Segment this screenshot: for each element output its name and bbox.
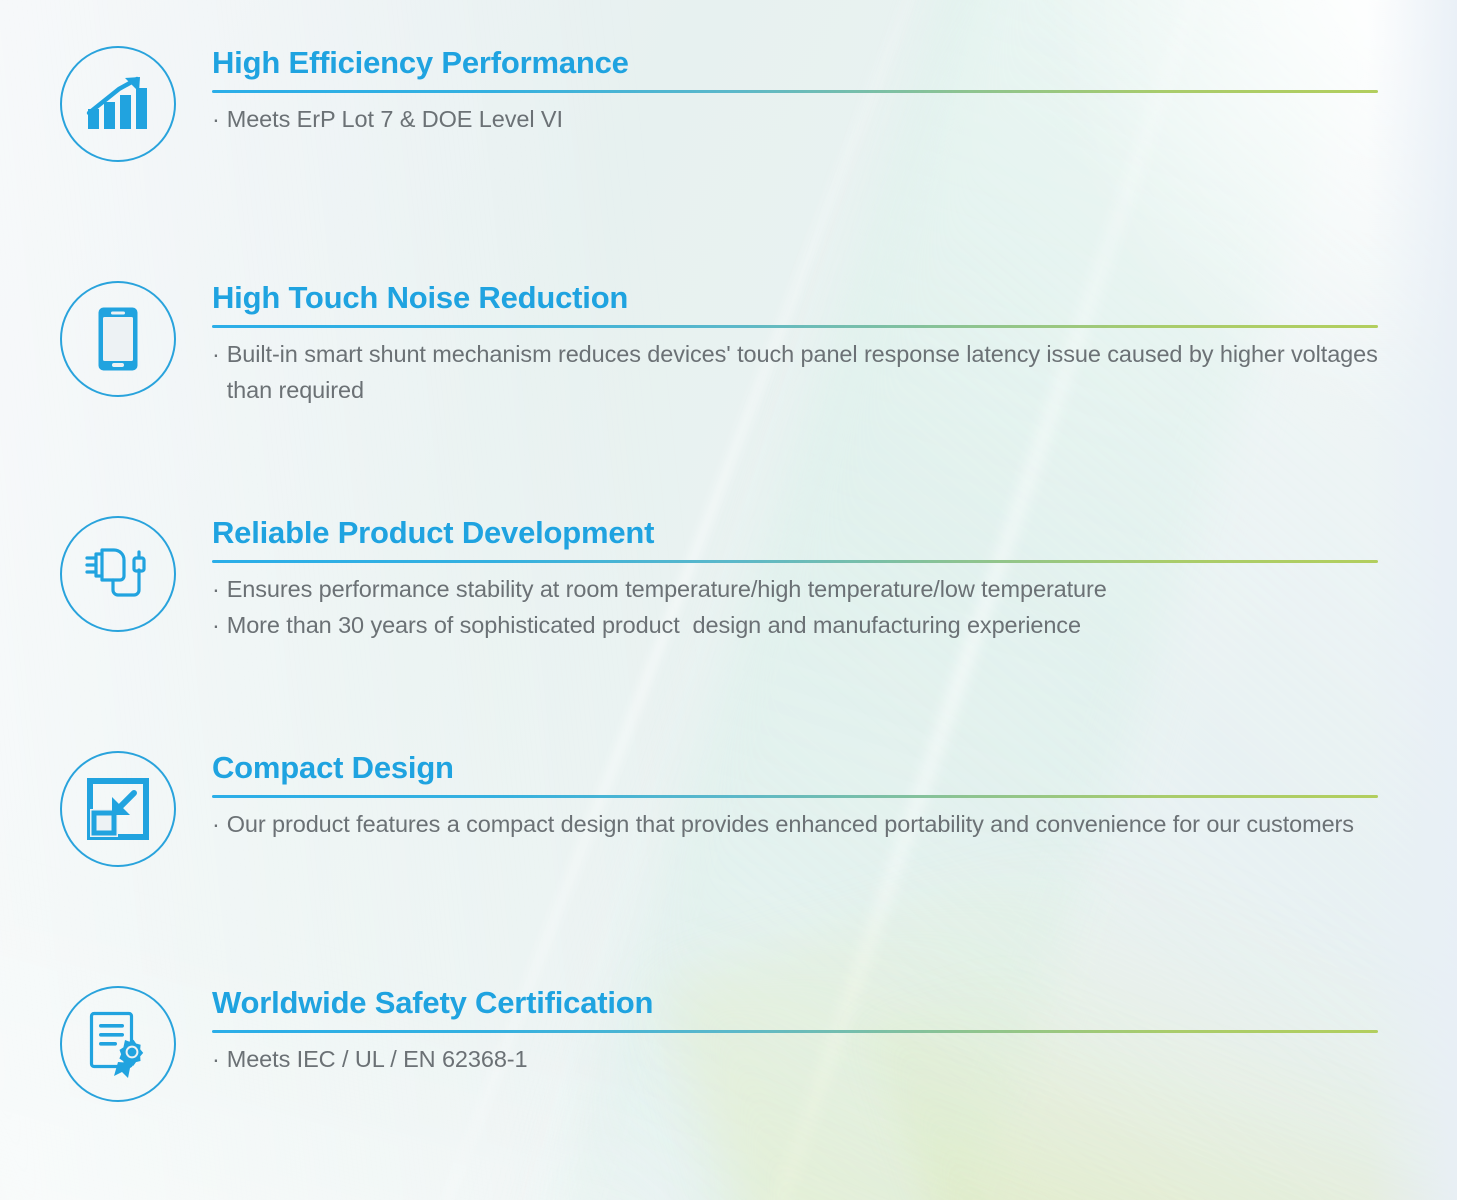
feature-content: High Touch Noise Reduction · Built-in sm… — [212, 281, 1457, 409]
feature-title: Compact Design — [212, 751, 1397, 784]
bullet-item: · Ensures performance stability at room … — [212, 572, 1397, 608]
feature-divider — [212, 560, 1378, 563]
feature-content: Reliable Product Development · Ensures p… — [212, 516, 1457, 644]
feature-item: Compact Design · Our product features a … — [0, 751, 1457, 867]
feature-item: High Touch Noise Reduction · Built-in sm… — [0, 281, 1457, 409]
feature-bullets: · Meets ErP Lot 7 & DOE Level VI — [212, 102, 1397, 138]
feature-content: Compact Design · Our product features a … — [212, 751, 1457, 843]
feature-icon-container — [58, 516, 178, 632]
feature-bullets: · Built-in smart shunt mechanism reduces… — [212, 337, 1397, 408]
bullet-text: Meets IEC / UL / EN 62368-1 — [227, 1042, 1397, 1078]
feature-divider — [212, 1030, 1378, 1033]
bullet-text: Ensures performance stability at room te… — [227, 572, 1397, 608]
feature-icon-container — [58, 46, 178, 162]
feature-icon-container — [58, 751, 178, 867]
bullet-marker: · — [212, 572, 220, 608]
bullet-item: · Meets IEC / UL / EN 62368-1 — [212, 1042, 1397, 1078]
feature-item: High Efficiency Performance · Meets ErP … — [0, 46, 1457, 162]
feature-bullets: · Ensures performance stability at room … — [212, 572, 1397, 643]
feature-item: Worldwide Safety Certification · Meets I… — [0, 986, 1457, 1102]
certificate-award-icon — [60, 986, 176, 1102]
compact-resize-icon — [60, 751, 176, 867]
bullet-text: More than 30 years of sophisticated prod… — [227, 608, 1397, 644]
bullet-item: · Our product features a compact design … — [212, 807, 1397, 843]
feature-title: High Efficiency Performance — [212, 46, 1397, 79]
bullet-item: · More than 30 years of sophisticated pr… — [212, 608, 1397, 644]
bullet-item: · Meets ErP Lot 7 & DOE Level VI — [212, 102, 1397, 138]
feature-title: Worldwide Safety Certification — [212, 986, 1397, 1019]
feature-icon-container — [58, 281, 178, 397]
feature-divider — [212, 90, 1378, 93]
bullet-text: Our product features a compact design th… — [227, 807, 1397, 843]
bullet-marker: · — [212, 1042, 220, 1078]
bullet-marker: · — [212, 337, 220, 373]
bullet-marker: · — [212, 608, 220, 644]
feature-bullets: · Our product features a compact design … — [212, 807, 1397, 843]
feature-divider — [212, 325, 1378, 328]
feature-title: Reliable Product Development — [212, 516, 1397, 549]
feature-divider — [212, 795, 1378, 798]
feature-content: High Efficiency Performance · Meets ErP … — [212, 46, 1457, 138]
feature-bullets: · Meets IEC / UL / EN 62368-1 — [212, 1042, 1397, 1078]
feature-content: Worldwide Safety Certification · Meets I… — [212, 986, 1457, 1078]
feature-icon-container — [58, 986, 178, 1102]
feature-list: High Efficiency Performance · Meets ErP … — [0, 0, 1457, 1200]
bullet-marker: · — [212, 807, 220, 843]
bullet-text: Meets ErP Lot 7 & DOE Level VI — [227, 102, 1397, 138]
feature-title: High Touch Noise Reduction — [212, 281, 1397, 314]
feature-item: Reliable Product Development · Ensures p… — [0, 516, 1457, 644]
bullet-text: Built-in smart shunt mechanism reduces d… — [227, 337, 1397, 408]
smartphone-icon — [60, 281, 176, 397]
bullet-marker: · — [212, 102, 220, 138]
bullet-item: · Built-in smart shunt mechanism reduces… — [212, 337, 1397, 408]
bar-chart-growth-icon — [60, 46, 176, 162]
power-adapter-icon — [60, 516, 176, 632]
